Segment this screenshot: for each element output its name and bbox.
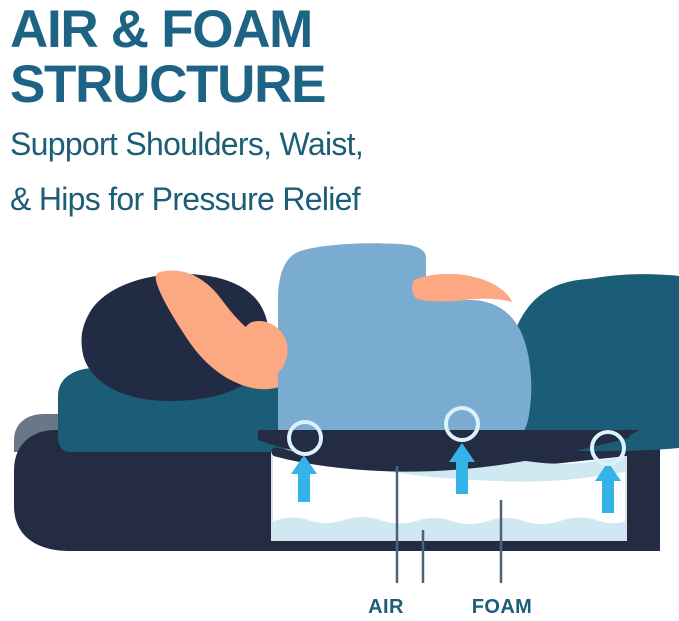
infographic-page: AIR & FOAM STRUCTURE Support Shoulders, … (0, 0, 679, 621)
mattress-illustration: AIR FOAM (0, 0, 679, 621)
shoulder-skin (412, 274, 512, 302)
torso-upper (278, 243, 531, 454)
legend-label-foam: FOAM (472, 596, 532, 618)
legend-label-air: AIR (368, 596, 404, 618)
